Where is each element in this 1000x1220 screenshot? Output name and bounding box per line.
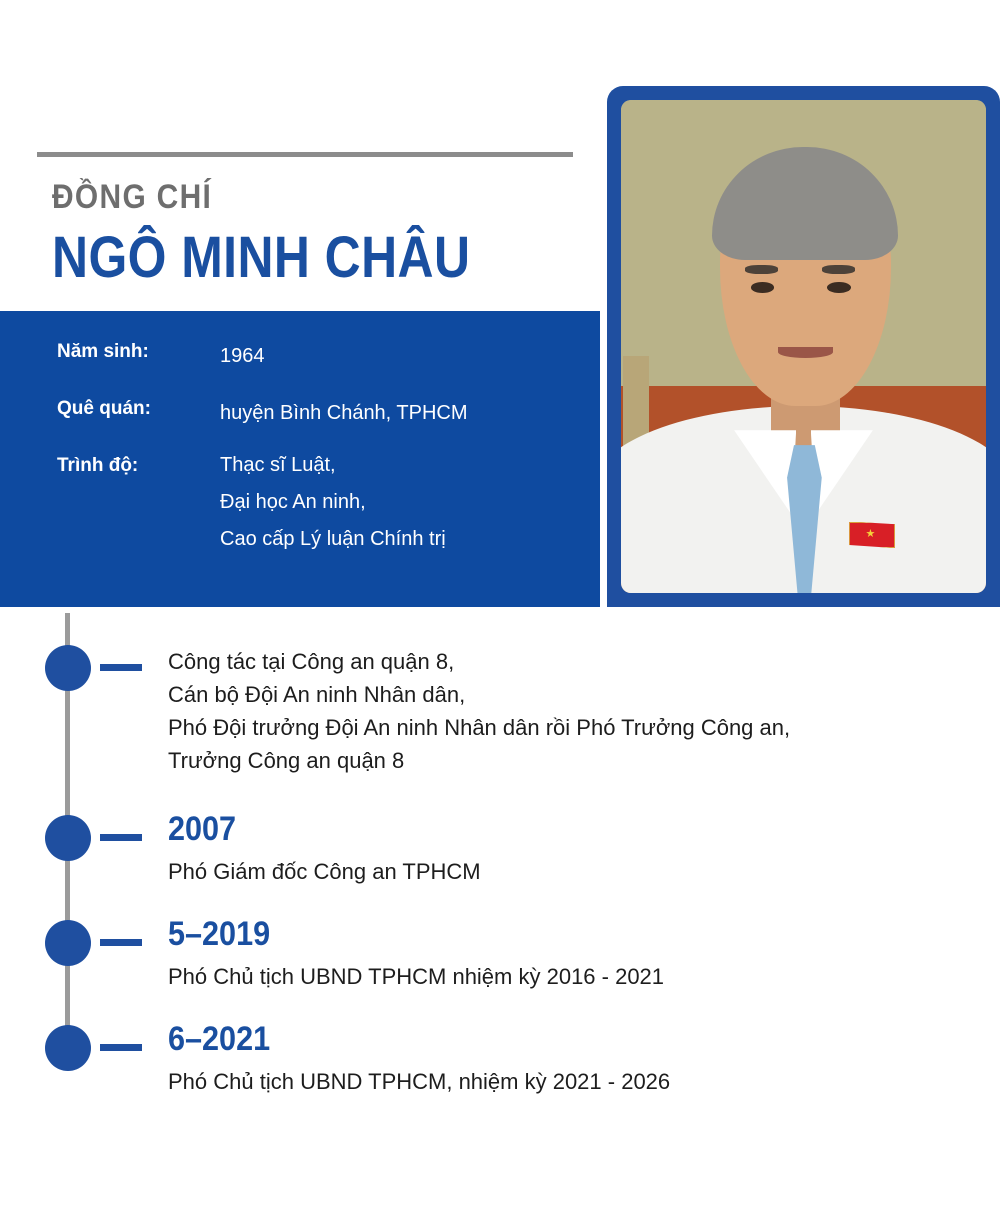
profile-field-education: Trình độ: Thạc sĩ Luật, Đại học An ninh,… — [57, 453, 446, 558]
timeline-year: 5–2019 — [168, 915, 270, 954]
timeline-dot — [45, 1025, 91, 1071]
profile-field-birth-year: Năm sinh: 1964 — [57, 339, 265, 374]
timeline-dash — [100, 1044, 142, 1051]
profile-value-birth-year: 1964 — [220, 339, 265, 374]
profile-label-hometown: Quê quán: — [57, 396, 220, 431]
portrait-eyebrow-right — [822, 265, 855, 273]
timeline-description: Phó Chủ tịch UBND TPHCM, nhiệm kỳ 2021 -… — [168, 1065, 670, 1098]
profile-label-birth-year: Năm sinh: — [57, 339, 220, 374]
profile-field-hometown: Quê quán: huyện Bình Chánh, TPHCM — [57, 396, 468, 431]
timeline-year: 6–2021 — [168, 1020, 270, 1059]
eyebrow-label: ĐỒNG CHÍ — [52, 178, 212, 217]
career-timeline: Công tác tại Công an quận 8, Cán bộ Đội … — [0, 607, 1000, 1107]
timeline-dot — [45, 815, 91, 861]
header-block: ĐỒNG CHÍ NGÔ MINH CHÂU — [0, 0, 600, 311]
timeline-dash — [100, 834, 142, 841]
timeline-dash — [100, 939, 142, 946]
profile-value-hometown: huyện Bình Chánh, TPHCM — [220, 396, 468, 431]
timeline-year: 2007 — [168, 810, 236, 849]
flag-star-icon: ★ — [866, 529, 876, 540]
timeline-dot — [45, 645, 91, 691]
portrait-photo: ★ — [621, 100, 986, 593]
timeline-dot — [45, 920, 91, 966]
timeline-description: Công tác tại Công an quận 8, Cán bộ Đội … — [168, 645, 790, 777]
profile-value-education: Thạc sĩ Luật, Đại học An ninh, Cao cấp L… — [220, 447, 446, 558]
page-title: NGÔ MINH CHÂU — [52, 228, 470, 289]
timeline-description: Phó Chủ tịch UBND TPHCM nhiệm kỳ 2016 - … — [168, 960, 664, 993]
timeline-dash — [100, 664, 142, 671]
timeline-description: Phó Giám đốc Công an TPHCM — [168, 855, 481, 888]
portrait-eyebrow-left — [745, 265, 778, 273]
profile-label-education: Trình độ: — [57, 453, 220, 558]
title-divider-rule — [37, 152, 573, 157]
